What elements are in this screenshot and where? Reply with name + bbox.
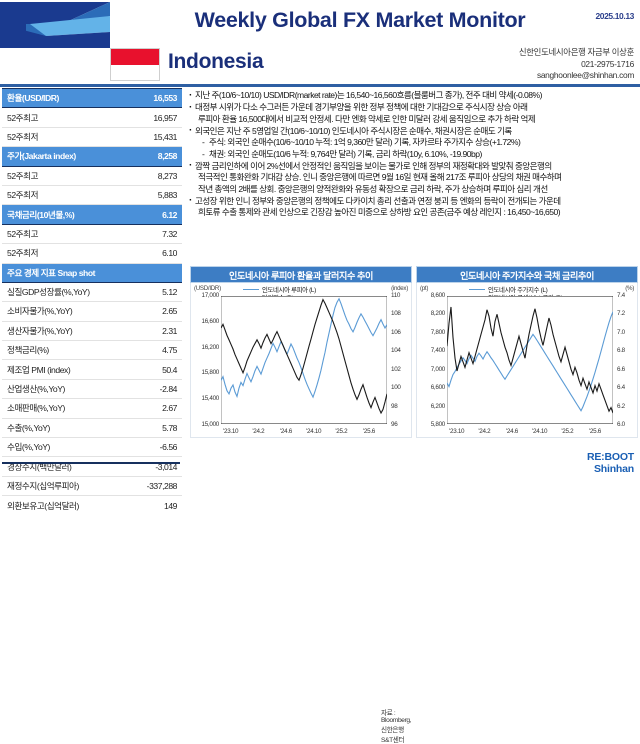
chart-title-equity: 인도네시아 주가지수와 국채 금리추이 <box>416 266 638 283</box>
y-axis-tick-right: 108 <box>391 310 409 317</box>
snapshot-row-value: -6.56 <box>130 438 182 457</box>
x-axis-tick: '25.2 <box>561 428 573 435</box>
x-axis-tick: '24.2 <box>252 428 264 435</box>
commentary-line: 적극적인 통화완화 기대감 상승. 인니 중앙은행에 따르면 9월 16일 현재… <box>195 172 638 184</box>
snapshot-group-value: 16,553 <box>130 89 182 108</box>
chart-equity-left-unit: (pt) <box>420 285 428 292</box>
snapshot-row-label: 재정수지(십억루피아) <box>2 476 130 495</box>
snapshot-row-label: 소매판매(%,YoY) <box>2 399 130 418</box>
snapshot-row: 정책금리(%)4.75 <box>2 341 182 360</box>
snapshot-row: 수출(%,YoY)5.78 <box>2 418 182 437</box>
snapshot-group-header: 국채금리(10년물,%)6.12 <box>2 205 182 224</box>
chart-fx-svg <box>221 296 387 424</box>
commentary-line: 외국인은 지난 주 5영업일 간(10/6~10/10) 인도네시아 주식시장은… <box>195 126 638 138</box>
y-axis-tick-right: 102 <box>391 366 409 373</box>
snapshot-row: 52주최저6.10 <box>2 244 182 263</box>
y-axis-tick-right: 7.0 <box>617 329 635 336</box>
y-axis-tick-right: 7.4 <box>617 292 635 299</box>
snapshot-group-label: 주요 경제 지표 Snap shot <box>2 263 130 282</box>
x-axis-tick: '23.10 <box>223 428 238 435</box>
snapshot-panel: 환율(USD/IDR)16,55352주최고16,95752주최저15,431주… <box>2 88 182 463</box>
y-axis-tick-right: 7.2 <box>617 310 635 317</box>
snapshot-row: 산업생산(%,YoY)-2.84 <box>2 379 182 398</box>
y-axis-tick-left: 8,600 <box>419 292 445 299</box>
snapshot-row-value: 2.65 <box>130 302 182 321</box>
snapshot-group-label: 환율(USD/IDR) <box>2 89 130 108</box>
y-axis-tick-left: 16,200 <box>193 344 219 351</box>
y-axis-tick-right: 6.2 <box>617 403 635 410</box>
snapshot-row-label: 52주최저 <box>2 244 130 263</box>
shinhan-logo-icon <box>0 2 110 48</box>
snapshot-row-value: 5,883 <box>130 185 182 204</box>
y-axis-tick-left: 6,600 <box>419 384 445 391</box>
y-axis-tick-left: 15,400 <box>193 395 219 402</box>
y-axis-tick-left: 7,400 <box>419 347 445 354</box>
chart-fx-plot <box>221 296 387 424</box>
commentary-sub-line: 주식: 외국인 순매수(10/6~10/10 누적: 1억 9,360만 달러)… <box>195 137 638 149</box>
snapshot-row-label: 수출(%,YoY) <box>2 418 130 437</box>
chart-body-equity: (pt) (%) 인도네시아 주가지수 (L) 인도네시아 국채(10y) 금리… <box>416 283 638 438</box>
snapshot-row-value: 5.78 <box>130 418 182 437</box>
commentary-line: 대정부 시위가 다소 수그러든 가운데 경기부양을 위한 정부 정책에 대한 기… <box>195 102 638 114</box>
contact-email: sanghoonlee@shinhan.com <box>519 70 634 82</box>
y-axis-tick-left: 15,000 <box>193 421 219 428</box>
snapshot-row: 52주최저15,431 <box>2 127 182 146</box>
snapshot-group-value: 8,258 <box>130 147 182 166</box>
commentary-bullet: 지난 주(10/6~10/10) USD/IDR(market rate)는 1… <box>188 90 638 102</box>
snapshot-row-label: 경상수지(백만달러) <box>2 457 130 476</box>
indonesia-flag-icon <box>110 48 160 81</box>
x-axis-tick: '25.6 <box>363 428 375 435</box>
x-axis-tick: '24.10 <box>532 428 547 435</box>
y-axis-tick-right: 6.4 <box>617 384 635 391</box>
y-axis-tick-right: 106 <box>391 329 409 336</box>
commentary-sub-line: 채권: 외국인 순매도(10/6 누적: 9,764만 달러) 기록, 금리 하… <box>195 149 638 161</box>
snapshot-group-label: 국채금리(10년물,%) <box>2 205 130 224</box>
y-axis-tick-right: 110 <box>391 292 409 299</box>
snapshot-group-header: 주가(Jakarta index)8,258 <box>2 147 182 166</box>
chart-fx-right-unit: (index) <box>391 285 408 292</box>
snapshot-row-value: 6.10 <box>130 244 182 263</box>
snapshot-row-label: 외환보유고(십억달러) <box>2 496 130 515</box>
commentary-bullet: 대정부 시위가 다소 수그러든 가운데 경기부양을 위한 정부 정책에 대한 기… <box>188 102 638 125</box>
y-axis-tick-right: 98 <box>391 403 409 410</box>
chart-body-fx: (USD/IDR) (index) 인도네시아 루피아 (L) 달러지수 (R)… <box>190 283 412 438</box>
y-axis-tick-left: 7,000 <box>419 366 445 373</box>
snapshot-row-value: 2.67 <box>130 399 182 418</box>
x-axis-tick: '25.2 <box>335 428 347 435</box>
snapshot-row-label: 생산자물가(%,YoY) <box>2 321 130 340</box>
chart-panel-equity: 인도네시아 주가지수와 국채 금리추이 (pt) (%) 인도네시아 주가지수 … <box>416 266 638 438</box>
snapshot-row: 생산자물가(%,YoY)2.31 <box>2 321 182 340</box>
snapshot-row-value: 16,957 <box>130 108 182 127</box>
y-axis-tick-left: 8,200 <box>419 310 445 317</box>
x-axis-tick: '24.2 <box>478 428 490 435</box>
contact-name: 신한인도네시아은행 자금부 이상훈 <box>519 47 634 59</box>
y-axis-tick-right: 104 <box>391 347 409 354</box>
snapshot-row-value: 4.75 <box>130 341 182 360</box>
snapshot-row: 재정수지(십억루피아)-337,288 <box>2 476 182 495</box>
y-axis-tick-right: 96 <box>391 421 409 428</box>
snapshot-row: 52주최고16,957 <box>2 108 182 127</box>
x-axis-tick: '23.10 <box>449 428 464 435</box>
snapshot-row-label: 52주최저 <box>2 127 130 146</box>
page-header: Weekly Global FX Market Monitor 2025.10.… <box>0 0 640 86</box>
snapshot-row-label: 소비자물가(%,YoY) <box>2 302 130 321</box>
commentary-block: 지난 주(10/6~10/10) USD/IDR(market rate)는 1… <box>188 90 638 255</box>
snapshot-row-value: 8,273 <box>130 166 182 185</box>
snapshot-group-value <box>130 263 182 282</box>
reboot-line1: RE:BOOT <box>587 452 634 464</box>
snapshot-row-value: 50.4 <box>130 360 182 379</box>
y-axis-tick-left: 16,600 <box>193 318 219 325</box>
snapshot-table: 환율(USD/IDR)16,55352주최고16,95752주최저15,431주… <box>2 88 182 515</box>
snapshot-bottom-divider <box>2 462 180 464</box>
x-axis-tick: '24.6 <box>506 428 518 435</box>
chart-equity-svg <box>447 296 613 424</box>
y-axis-tick-left: 15,800 <box>193 369 219 376</box>
snapshot-row: 외환보유고(십억달러)149 <box>2 496 182 515</box>
snapshot-row: 소매판매(%,YoY)2.67 <box>2 399 182 418</box>
snapshot-row-label: 수입(%,YoY) <box>2 438 130 457</box>
snapshot-row-value: -2.84 <box>130 379 182 398</box>
snapshot-row-label: 52주최고 <box>2 224 130 243</box>
snapshot-row: 52주최고7.32 <box>2 224 182 243</box>
contact-phone: 021-2975-1716 <box>519 59 634 71</box>
snapshot-group-header: 주요 경제 지표 Snap shot <box>2 263 182 282</box>
commentary-line: 작년 총액의 2배를 상회. 중앙은행의 양적완화와 유동성 확장으로 금리 하… <box>195 184 638 196</box>
chart-fx-left-unit: (USD/IDR) <box>194 285 221 292</box>
reboot-line2: Shinhan <box>587 464 634 476</box>
snapshot-row: 52주최저5,883 <box>2 185 182 204</box>
snapshot-row-value: 15,431 <box>130 127 182 146</box>
snapshot-row: 제조업 PMI (index)50.4 <box>2 360 182 379</box>
y-axis-tick-right: 6.0 <box>617 421 635 428</box>
snapshot-row: 소비자물가(%,YoY)2.65 <box>2 302 182 321</box>
snapshot-row-value: 149 <box>130 496 182 515</box>
country-name: Indonesia <box>168 50 263 74</box>
snapshot-group-label: 주가(Jakarta index) <box>2 147 130 166</box>
flag-white-band <box>111 65 159 81</box>
reboot-shinhan-logo: RE:BOOT Shinhan <box>587 452 634 475</box>
contact-block: 신한인도네시아은행 자금부 이상훈 021-2975-1716 sanghoon… <box>519 47 634 82</box>
header-divider <box>0 84 640 87</box>
chart-equity-plot <box>447 296 613 424</box>
commentary-bullet: 고성장 위한 인니 정부와 중앙은행의 정책에도 다카이치 총리 선출과 연정 … <box>188 196 638 219</box>
commentary-line: 고성장 위한 인니 정부와 중앙은행의 정책에도 다카이치 총리 선출과 연정 … <box>195 196 638 208</box>
x-axis-tick: '24.6 <box>280 428 292 435</box>
snapshot-row: 52주최고8,273 <box>2 166 182 185</box>
snapshot-row-value: 7.32 <box>130 224 182 243</box>
snapshot-row-label: 52주최저 <box>2 185 130 204</box>
snapshot-row-label: 산업생산(%,YoY) <box>2 379 130 398</box>
y-axis-tick-right: 100 <box>391 384 409 391</box>
legend-swatch-jci <box>469 289 485 290</box>
snapshot-row-label: 제조업 PMI (index) <box>2 360 130 379</box>
snapshot-row-value: -3,014 <box>130 457 182 476</box>
y-axis-tick-left: 7,800 <box>419 329 445 336</box>
flag-red-band <box>111 49 159 65</box>
commentary-bullet: 외국인은 지난 주 5영업일 간(10/6~10/10) 인도네시아 주식시장은… <box>188 126 638 161</box>
y-axis-tick-right: 6.6 <box>617 366 635 373</box>
snapshot-group-header: 환율(USD/IDR)16,553 <box>2 89 182 108</box>
document-date: 2025.10.13 <box>595 11 634 21</box>
chart-title-fx: 인도네시아 루피아 환율과 달러지수 추이 <box>190 266 412 283</box>
snapshot-row-label: 정책금리(%) <box>2 341 130 360</box>
snapshot-row-label: 실질GDP성장률(%,YoY) <box>2 282 130 301</box>
chart-fx-source: 자료 : Bloomberg, 신한은행 S&T센터 <box>381 707 412 744</box>
snapshot-row-value: 2.31 <box>130 321 182 340</box>
y-axis-tick-left: 17,000 <box>193 292 219 299</box>
snapshot-row-label: 52주최고 <box>2 166 130 185</box>
commentary-line: 깜짝 금리인하에 이어 2%선에서 안정적인 움직임을 보이는 물가로 인해 정… <box>195 161 638 173</box>
snapshot-row-label: 52주최고 <box>2 108 130 127</box>
x-axis-tick: '25.6 <box>589 428 601 435</box>
chart-equity-right-unit: (%) <box>625 285 634 292</box>
commentary-line: 희토류 수출 통제와 관세 인상으로 긴장감 높아진 미중으로 상하방 요인 공… <box>195 207 638 219</box>
x-axis-tick: '24.10 <box>306 428 321 435</box>
commentary-line: 지난 주(10/6~10/10) USD/IDR(market rate)는 1… <box>195 90 638 102</box>
snapshot-row: 수입(%,YoY)-6.56 <box>2 438 182 457</box>
snapshot-group-value: 6.12 <box>130 205 182 224</box>
snapshot-row: 경상수지(백만달러)-3,014 <box>2 457 182 476</box>
y-axis-tick-left: 6,200 <box>419 403 445 410</box>
y-axis-tick-right: 6.8 <box>617 347 635 354</box>
snapshot-row-value: 5.12 <box>130 282 182 301</box>
snapshot-row: 실질GDP성장률(%,YoY)5.12 <box>2 282 182 301</box>
commentary-line: 루피아 환율 16,500대에서 비교적 안정세. 다만 엔화 약세로 인한 미… <box>195 114 638 126</box>
y-axis-tick-left: 5,800 <box>419 421 445 428</box>
commentary-bullet: 깜짝 금리인하에 이어 2%선에서 안정적인 움직임을 보이는 물가로 인해 정… <box>188 161 638 196</box>
chart-panel-fx: 인도네시아 루피아 환율과 달러지수 추이 (USD/IDR) (index) … <box>190 266 412 438</box>
snapshot-row-value: -337,288 <box>130 476 182 495</box>
legend-swatch-rupiah <box>243 289 259 290</box>
page-title: Weekly Global FX Market Monitor <box>160 8 560 33</box>
